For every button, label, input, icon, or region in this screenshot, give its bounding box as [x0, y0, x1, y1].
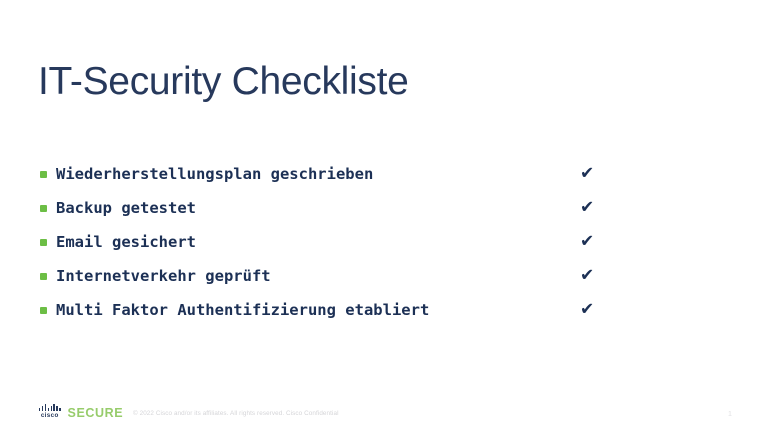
list-item-label: Backup getestet	[56, 199, 196, 217]
cisco-wordmark: cisco	[41, 413, 59, 419]
slide: IT-Security Checkliste Wiederherstellung…	[0, 0, 768, 432]
slide-footer: cisco SECURE © 2022 Cisco and/or its aff…	[0, 394, 768, 432]
list-item-label: Internetverkehr geprüft	[56, 267, 271, 285]
cisco-secure-logo: cisco SECURE	[39, 404, 123, 419]
list-item[interactable]: Wiederherstellungsplan geschrieben ✔	[38, 157, 638, 191]
page-title: IT-Security Checkliste	[38, 60, 409, 104]
list-item[interactable]: Internetverkehr geprüft ✔	[38, 259, 638, 293]
list-item-label: Email gesichert	[56, 233, 196, 251]
bullet-icon	[40, 307, 47, 314]
bullet-icon	[40, 205, 47, 212]
list-item[interactable]: Email gesichert ✔	[38, 225, 638, 259]
checkmark-icon[interactable]: ✔	[580, 166, 594, 183]
secure-wordmark: SECURE	[68, 407, 124, 419]
cisco-bridge-bars-icon	[39, 404, 61, 411]
copyright-text: © 2022 Cisco and/or its affiliates. All …	[133, 410, 339, 417]
list-item[interactable]: Backup getestet ✔	[38, 191, 638, 225]
cisco-logo-icon: cisco	[39, 404, 61, 419]
list-item-label: Wiederherstellungsplan geschrieben	[56, 165, 373, 183]
list-item[interactable]: Multi Faktor Authentifizierung etabliert…	[38, 293, 638, 327]
checklist: Wiederherstellungsplan geschrieben ✔ Bac…	[38, 157, 638, 327]
checkmark-icon[interactable]: ✔	[580, 200, 594, 217]
checkmark-icon[interactable]: ✔	[580, 268, 594, 285]
checkmark-icon[interactable]: ✔	[580, 234, 594, 251]
bullet-icon	[40, 239, 47, 246]
list-item-label: Multi Faktor Authentifizierung etabliert	[56, 301, 429, 319]
checkmark-icon[interactable]: ✔	[580, 302, 594, 319]
bullet-icon	[40, 171, 47, 178]
page-number: 1	[728, 409, 732, 418]
bullet-icon	[40, 273, 47, 280]
